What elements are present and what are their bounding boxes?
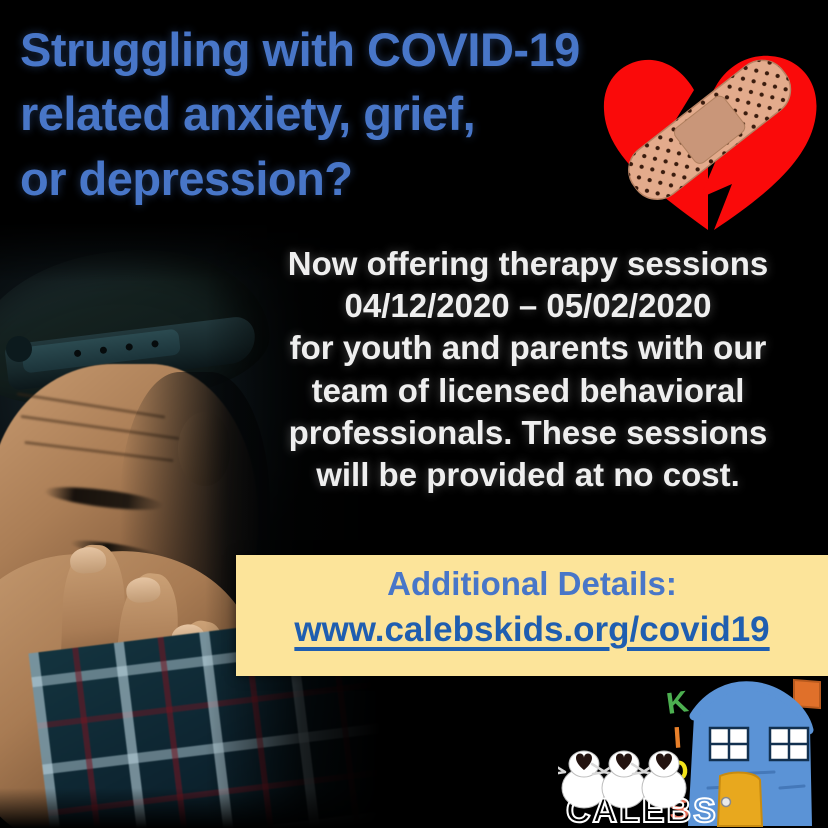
body-line-4: team of licensed behavioral (238, 370, 818, 412)
body-line-1: Now offering therapy sessions (238, 243, 818, 285)
kids-letter-i: I (672, 721, 683, 755)
page-title: Struggling with COVID-19 related anxiety… (20, 18, 620, 211)
banner-title: Additional Details: (236, 565, 828, 603)
heart-bandage-svg (590, 18, 828, 240)
additional-details-banner: Additional Details: www.calebskids.org/c… (236, 555, 828, 676)
strap-hole (151, 340, 159, 348)
headline-line-1: Struggling with COVID-19 (20, 18, 620, 82)
window-left (710, 728, 748, 760)
body-line-2-dates: 04/12/2020 – 05/02/2020 (238, 285, 818, 327)
body-line-6: will be provided at no cost. (238, 454, 818, 496)
poster-canvas: Struggling with COVID-19 related anxiety… (0, 0, 828, 828)
broken-heart-with-bandage-icon (590, 18, 828, 240)
calebs-kids-logo[interactable]: K I D S (558, 676, 828, 828)
body-copy: Now offering therapy sessions 04/12/2020… (238, 243, 818, 496)
headline-line-3: or depression? (20, 147, 620, 211)
fingernail (125, 576, 161, 603)
website-link[interactable]: www.calebskids.org/covid19 (236, 610, 828, 650)
strap-hole (100, 346, 108, 354)
kids-letter-k: K (664, 685, 690, 721)
door-knob (722, 798, 731, 807)
headline-line-2: related anxiety, grief, (20, 82, 620, 146)
calebs-kids-logo-svg: K I D S (558, 676, 828, 828)
strap-hole (125, 343, 133, 351)
window-right (770, 728, 808, 760)
strap-hole (74, 349, 82, 357)
body-line-3: for youth and parents with our (238, 327, 818, 369)
body-line-5: professionals. These sessions (238, 412, 818, 454)
calebs-wordmark: CALEBS (566, 792, 718, 828)
